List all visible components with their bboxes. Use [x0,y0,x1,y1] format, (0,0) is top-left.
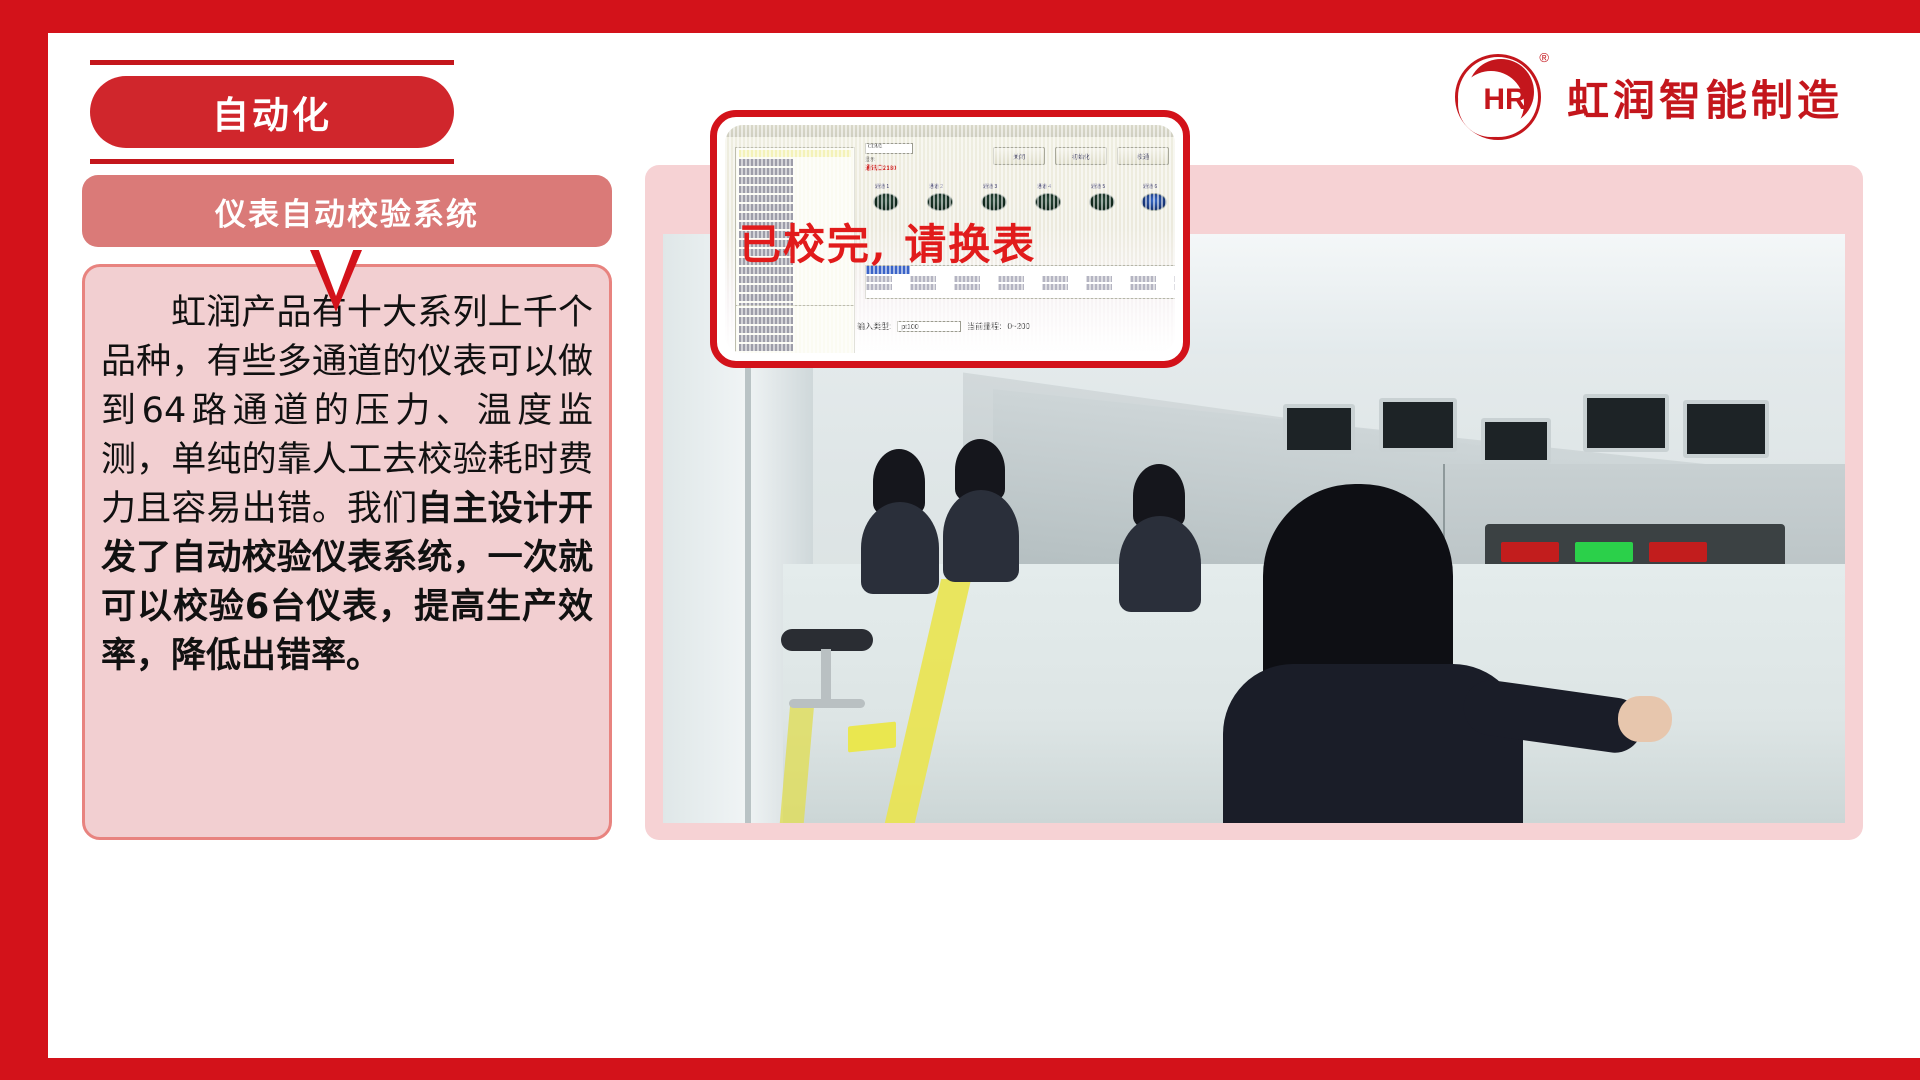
software-tree-panel-lower [735,305,855,353]
channel-dial[interactable] [1089,193,1115,211]
parameter-fields: 输入类型: pt100 当前量程: 0~200 [857,321,1030,332]
channel-dial[interactable] [1035,193,1061,211]
registered-mark-icon: ® [1539,50,1549,65]
channel-5-label: 通道 5 [1091,183,1105,190]
channel-6-label: 通道 6 [1143,183,1157,190]
slide-root: HR ® 虹润智能制造 自动化 仪表自动校验系统 虹润产品有十大系列上千个品种，… [0,0,1920,1080]
photo-led-green [1575,542,1633,562]
close-button[interactable]: 关闭 [993,147,1045,165]
callout-tail-inner [318,248,354,296]
frame-border-top [0,0,1920,33]
channel-button[interactable]: 校通 [1117,147,1169,165]
photo-led-red-2 [1649,542,1707,562]
com-port-select[interactable]: COM1 [865,143,913,154]
body-paragraph: 虹润产品有十大系列上千个品种，有些多通道的仪表可以做到64路通道的压力、温度监测… [101,289,593,681]
frame-border-left [0,0,48,1080]
page-title: 自动化 [212,85,332,139]
channel-dial-active[interactable] [1141,193,1167,211]
software-control-group: COM1 显示 通讯口2180 [865,143,975,199]
page-title-pill: 自动化 [90,76,454,148]
photo-worker [943,490,1019,582]
brand-name: 虹润智能制造 [1567,67,1843,128]
comm-status-text: 通讯口2180 [865,163,975,172]
section-subtitle-bar: 仪表自动校验系统 [82,175,612,247]
photo-stool [781,629,873,729]
photo-led-red [1501,542,1559,562]
range-label: 当前量程: [967,321,1001,332]
photo-operator-hand [1618,696,1672,742]
range-value: 0~200 [1007,322,1029,331]
initialize-button[interactable]: 初始化 [1055,147,1107,165]
hr-circle-icon: HR ® [1455,54,1541,140]
calibration-complete-message: 已校完, 请换表 [739,211,1036,272]
channel-dial[interactable] [981,193,1007,211]
channel-3-label: 通道 3 [983,183,997,190]
photo-worker [1119,516,1201,612]
title-block: 自动化 [90,60,454,164]
input-type-label: 输入类型: [857,321,891,332]
logo-letters: HR [1455,54,1541,140]
display-checkbox[interactable]: 显示 [865,156,975,163]
frame-border-bottom [0,1058,1920,1080]
input-type-select[interactable]: pt100 [897,321,961,332]
channel-dial[interactable] [873,193,899,211]
calibration-software-window: COM1 显示 通讯口2180 关闭 初始化 校通 合格率 通道 1 通道 2 … [725,125,1175,353]
software-screenshot-callout: COM1 显示 通讯口2180 关闭 初始化 校通 合格率 通道 1 通道 2 … [710,110,1190,368]
channel-4-label: 通道 4 [1037,183,1051,190]
channel-2-label: 通道 2 [929,183,943,190]
photo-worker [861,502,939,594]
title-rule-top [90,60,454,65]
channel-1-label: 通道 1 [875,183,889,190]
body-text-box: 虹润产品有十大系列上千个品种，有些多通道的仪表可以做到64路通道的压力、温度监测… [82,264,612,840]
software-titlebar [725,125,1175,137]
channel-dial[interactable] [927,193,953,211]
brand-logo: HR ® 虹润智能制造 [1455,52,1843,142]
title-rule-bottom [90,159,454,164]
section-subtitle: 仪表自动校验系统 [215,189,479,234]
